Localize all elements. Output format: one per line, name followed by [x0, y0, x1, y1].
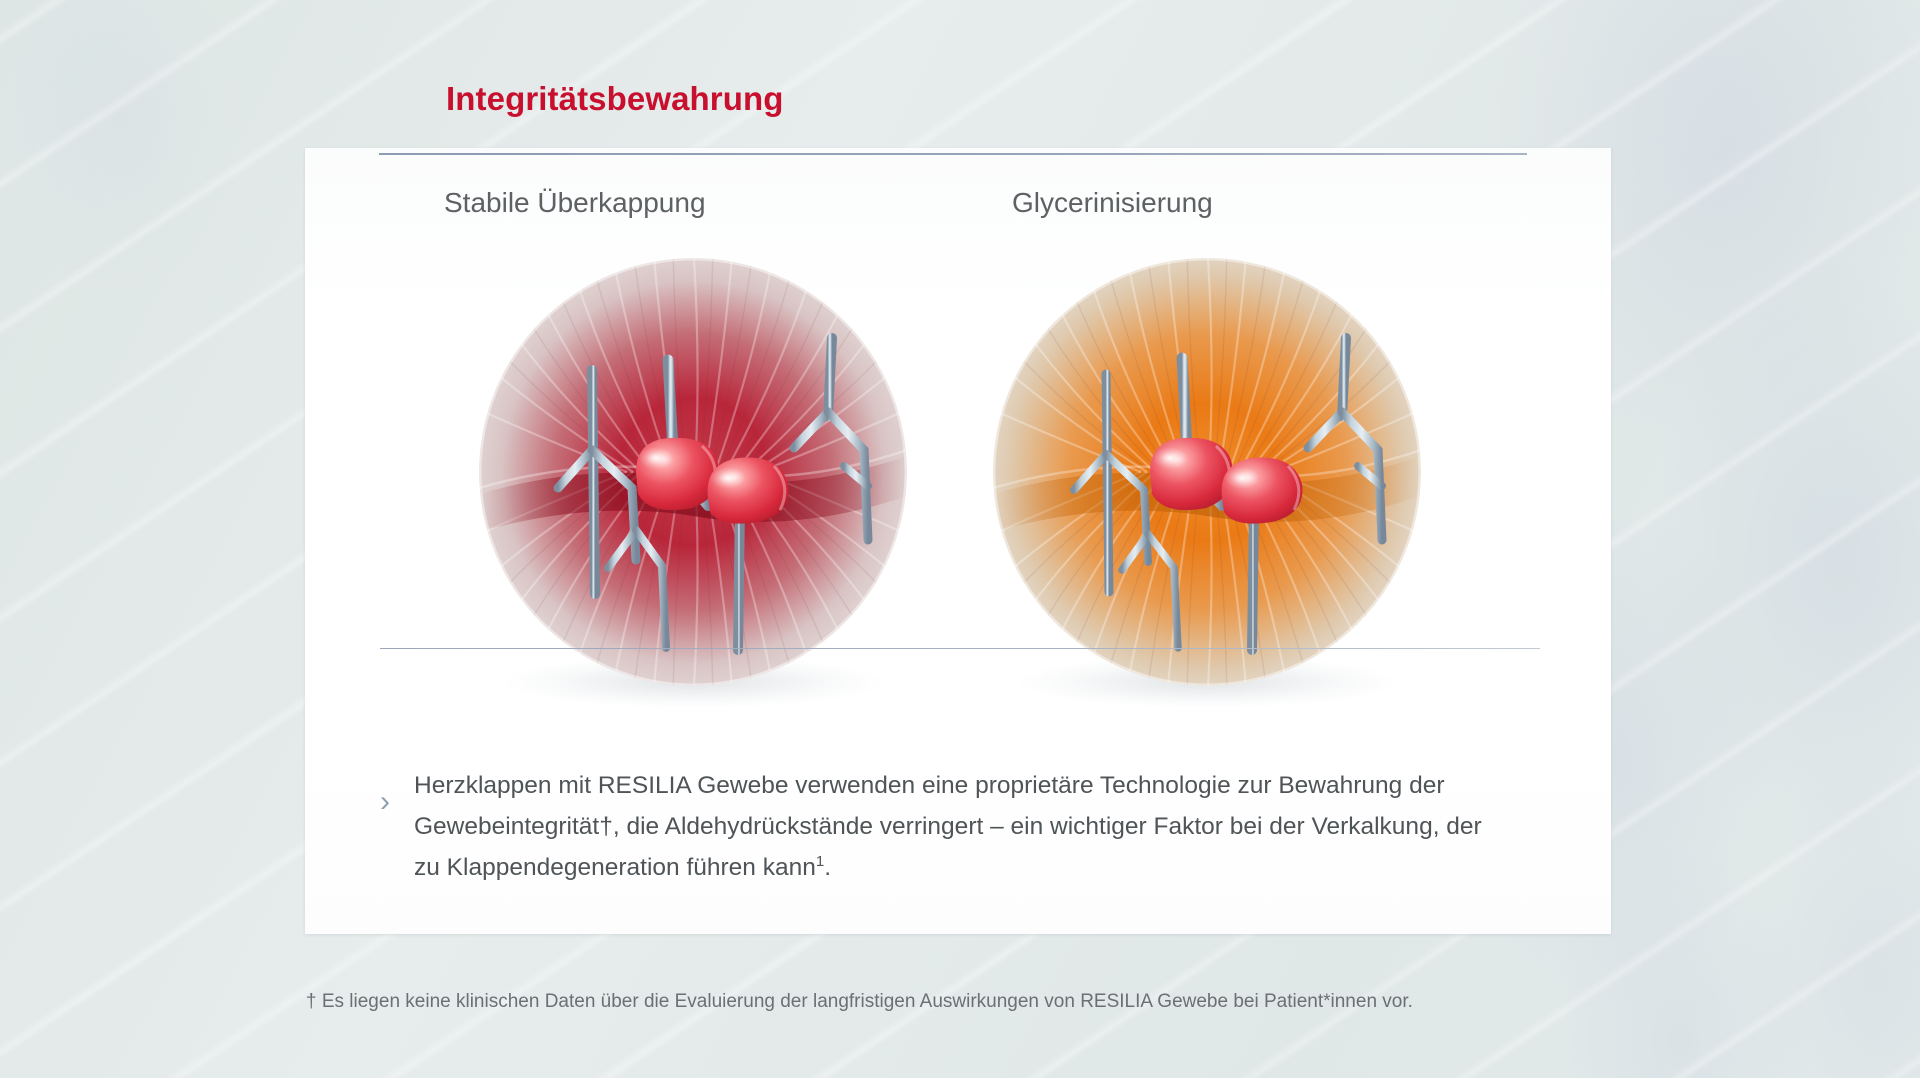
slide-root: Integritätsbewahrung Stabile Überkappung…	[0, 0, 1920, 1078]
red-cap	[1222, 458, 1303, 524]
key-message-bullet: › Herzklappen mit RESILIA Gewebe verwend…	[380, 765, 1500, 888]
red-cap	[708, 458, 789, 524]
column-label-right: Glycerinisierung	[1012, 187, 1213, 219]
column-label-left: Stabile Überkappung	[444, 187, 706, 219]
divider-middle	[380, 648, 1540, 649]
reference-marker-1: 1	[816, 853, 824, 870]
red-cap	[636, 438, 719, 510]
tissue-illustration	[440, 250, 1460, 720]
page-title: Integritätsbewahrung	[446, 80, 784, 118]
footnote-dagger: † Es liegen keine klinischen Daten über …	[306, 991, 1413, 1013]
body-line-3-end: .	[824, 854, 831, 881]
divider-top	[379, 153, 1527, 155]
red-cap	[1150, 438, 1233, 510]
chevron-right-icon: ›	[380, 787, 414, 817]
key-message-text: Herzklappen mit RESILIA Gewebe verwenden…	[414, 765, 1500, 888]
body-line-1: Herzklappen mit RESILIA Gewebe verwenden…	[414, 772, 1402, 799]
